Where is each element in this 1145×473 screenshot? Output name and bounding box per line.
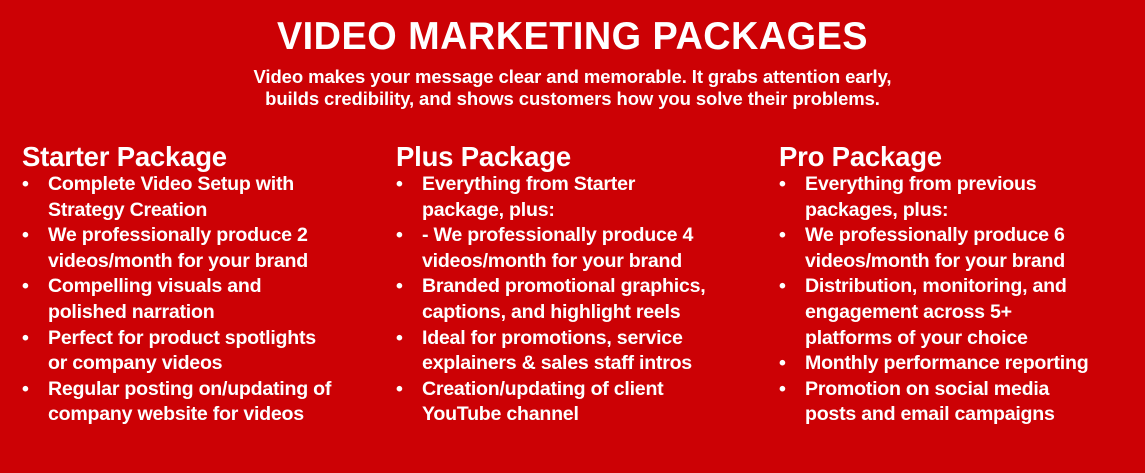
list-item-text: We professionally produce 2videos/month … [48,223,376,274]
list-item: •Ideal for promotions, serviceexplainers… [396,326,757,377]
package-feature-list-pro: •Everything from previouspackages, plus:… [779,172,1139,428]
subtitle-line-1: Video makes your message clear and memor… [0,66,1145,88]
list-item-text: We professionally produce 6videos/month … [805,223,1139,274]
list-item-line: packages, plus: [805,198,1139,224]
list-item: •Complete Video Setup withStrategy Creat… [22,172,376,223]
list-item: •Regular posting on/updating ofcompany w… [22,377,376,428]
list-item-text: Regular posting on/updating ofcompany we… [48,377,376,428]
bullet-dot-icon: • [779,274,799,300]
list-item-line: videos/month for your brand [805,249,1139,275]
list-item: •Promotion on social mediaposts and emai… [779,377,1139,428]
list-item-text: Everything from Starterpackage, plus: [422,172,757,223]
package-title-starter: Starter Package [22,142,376,172]
list-item: •Distribution, monitoring, andengagement… [779,274,1139,351]
list-item-line: We professionally produce 6 [805,223,1139,249]
list-item-line: YouTube channel [422,402,757,428]
list-item: •We professionally produce 2videos/month… [22,223,376,274]
slide-header: VIDEO MARKETING PACKAGES Video makes you… [0,0,1145,109]
list-item-line: platforms of your choice [805,326,1139,352]
package-column-pro: Pro Package •Everything from previouspac… [767,142,1145,473]
bullet-dot-icon: • [396,274,416,300]
list-item-line: package, plus: [422,198,757,224]
list-item: •We professionally produce 6videos/month… [779,223,1139,274]
list-item-line: videos/month for your brand [422,249,757,275]
package-feature-list-starter: •Complete Video Setup withStrategy Creat… [22,172,376,428]
list-item-line: videos/month for your brand [48,249,376,275]
list-item-text: Promotion on social mediaposts and email… [805,377,1139,428]
list-item-line: or company videos [48,351,376,377]
list-item-line: - We professionally produce 4 [422,223,757,249]
list-item-text: Compelling visuals andpolished narration [48,274,376,325]
packages-row: Starter Package •Complete Video Setup wi… [0,142,1145,473]
bullet-dot-icon: • [396,326,416,352]
list-item-text: Ideal for promotions, serviceexplainers … [422,326,757,377]
list-item-line: Ideal for promotions, service [422,326,757,352]
subtitle: Video makes your message clear and memor… [0,58,1145,109]
bullet-dot-icon: • [396,223,416,249]
list-item: •Branded promotional graphics,captions, … [396,274,757,325]
list-item-text: Monthly performance reporting [805,351,1139,377]
list-item-line: Promotion on social media [805,377,1139,403]
bullet-dot-icon: • [396,172,416,198]
list-item-line: captions, and highlight reels [422,300,757,326]
bullet-dot-icon: • [779,351,799,377]
list-item-line: Everything from Starter [422,172,757,198]
list-item: •Monthly performance reporting [779,351,1139,377]
subtitle-line-2: builds credibility, and shows customers … [0,88,1145,110]
list-item-line: Complete Video Setup with [48,172,376,198]
list-item-line: Everything from previous [805,172,1139,198]
list-item: •Perfect for product spotlightsor compan… [22,326,376,377]
bullet-dot-icon: • [779,172,799,198]
list-item-text: Perfect for product spotlightsor company… [48,326,376,377]
list-item-line: Distribution, monitoring, and [805,274,1139,300]
list-item-text: Creation/updating of clientYouTube chann… [422,377,757,428]
list-item-line: engagement across 5+ [805,300,1139,326]
list-item: •- We professionally produce 4videos/mon… [396,223,757,274]
bullet-dot-icon: • [396,377,416,403]
list-item-line: polished narration [48,300,376,326]
list-item-text: Distribution, monitoring, andengagement … [805,274,1139,351]
list-item-text: - We professionally produce 4videos/mont… [422,223,757,274]
list-item-line: Branded promotional graphics, [422,274,757,300]
package-feature-list-plus: •Everything from Starterpackage, plus:•-… [396,172,757,428]
bullet-dot-icon: • [22,223,42,249]
bullet-dot-icon: • [22,377,42,403]
list-item-line: Compelling visuals and [48,274,376,300]
list-item-line: Monthly performance reporting [805,351,1139,377]
list-item-line: Regular posting on/updating of [48,377,376,403]
list-item-line: Perfect for product spotlights [48,326,376,352]
bullet-dot-icon: • [22,326,42,352]
list-item: •Everything from Starterpackage, plus: [396,172,757,223]
list-item-line: explainers & sales staff intros [422,351,757,377]
slide-canvas: VIDEO MARKETING PACKAGES Video makes you… [0,0,1145,473]
package-column-plus: Plus Package •Everything from Starterpac… [388,142,767,473]
list-item-line: company website for videos [48,402,376,428]
package-title-plus: Plus Package [396,142,757,172]
package-title-pro: Pro Package [779,142,1139,172]
bullet-dot-icon: • [779,223,799,249]
list-item: •Everything from previouspackages, plus: [779,172,1139,223]
list-item: •Compelling visuals andpolished narratio… [22,274,376,325]
list-item-text: Branded promotional graphics,captions, a… [422,274,757,325]
bullet-dot-icon: • [22,274,42,300]
list-item: •Creation/updating of clientYouTube chan… [396,377,757,428]
list-item-text: Complete Video Setup withStrategy Creati… [48,172,376,223]
list-item-text: Everything from previouspackages, plus: [805,172,1139,223]
list-item-line: posts and email campaigns [805,402,1139,428]
package-column-starter: Starter Package •Complete Video Setup wi… [0,142,388,473]
list-item-line: Strategy Creation [48,198,376,224]
list-item-line: Creation/updating of client [422,377,757,403]
list-item-line: We professionally produce 2 [48,223,376,249]
bullet-dot-icon: • [22,172,42,198]
page-title: VIDEO MARKETING PACKAGES [17,0,1128,58]
bullet-dot-icon: • [779,377,799,403]
